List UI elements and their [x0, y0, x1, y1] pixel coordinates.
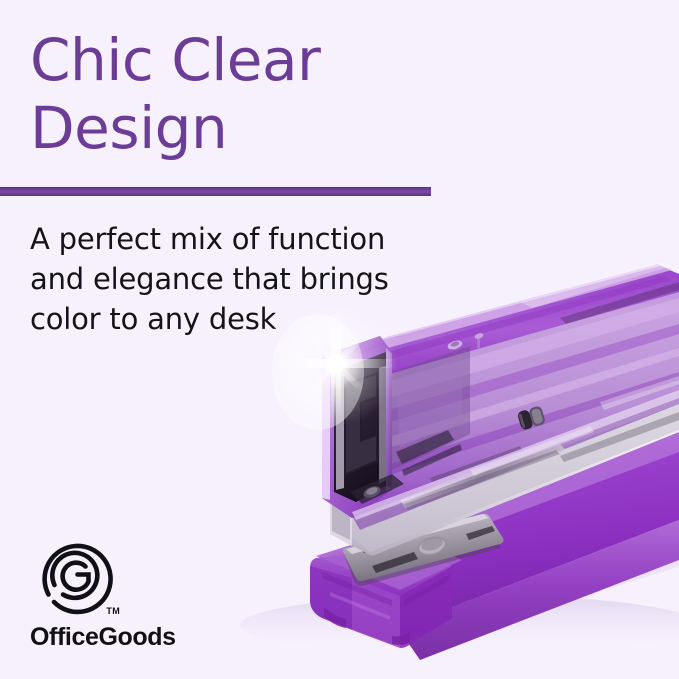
officegoods-spiral-g-icon: TM	[30, 536, 122, 618]
product-marketing-image: Chic Clear Design A perfect mix of funct…	[0, 0, 679, 679]
trademark-symbol: TM	[106, 606, 120, 616]
subtitle-text: A perfect mix of function and elegance t…	[30, 219, 430, 339]
page-title: Chic Clear Design	[30, 26, 450, 162]
brand-logo: TM OfficeGoods	[30, 536, 240, 652]
divider-rule	[0, 187, 431, 196]
brand-wordmark: OfficeGoods	[30, 623, 240, 652]
